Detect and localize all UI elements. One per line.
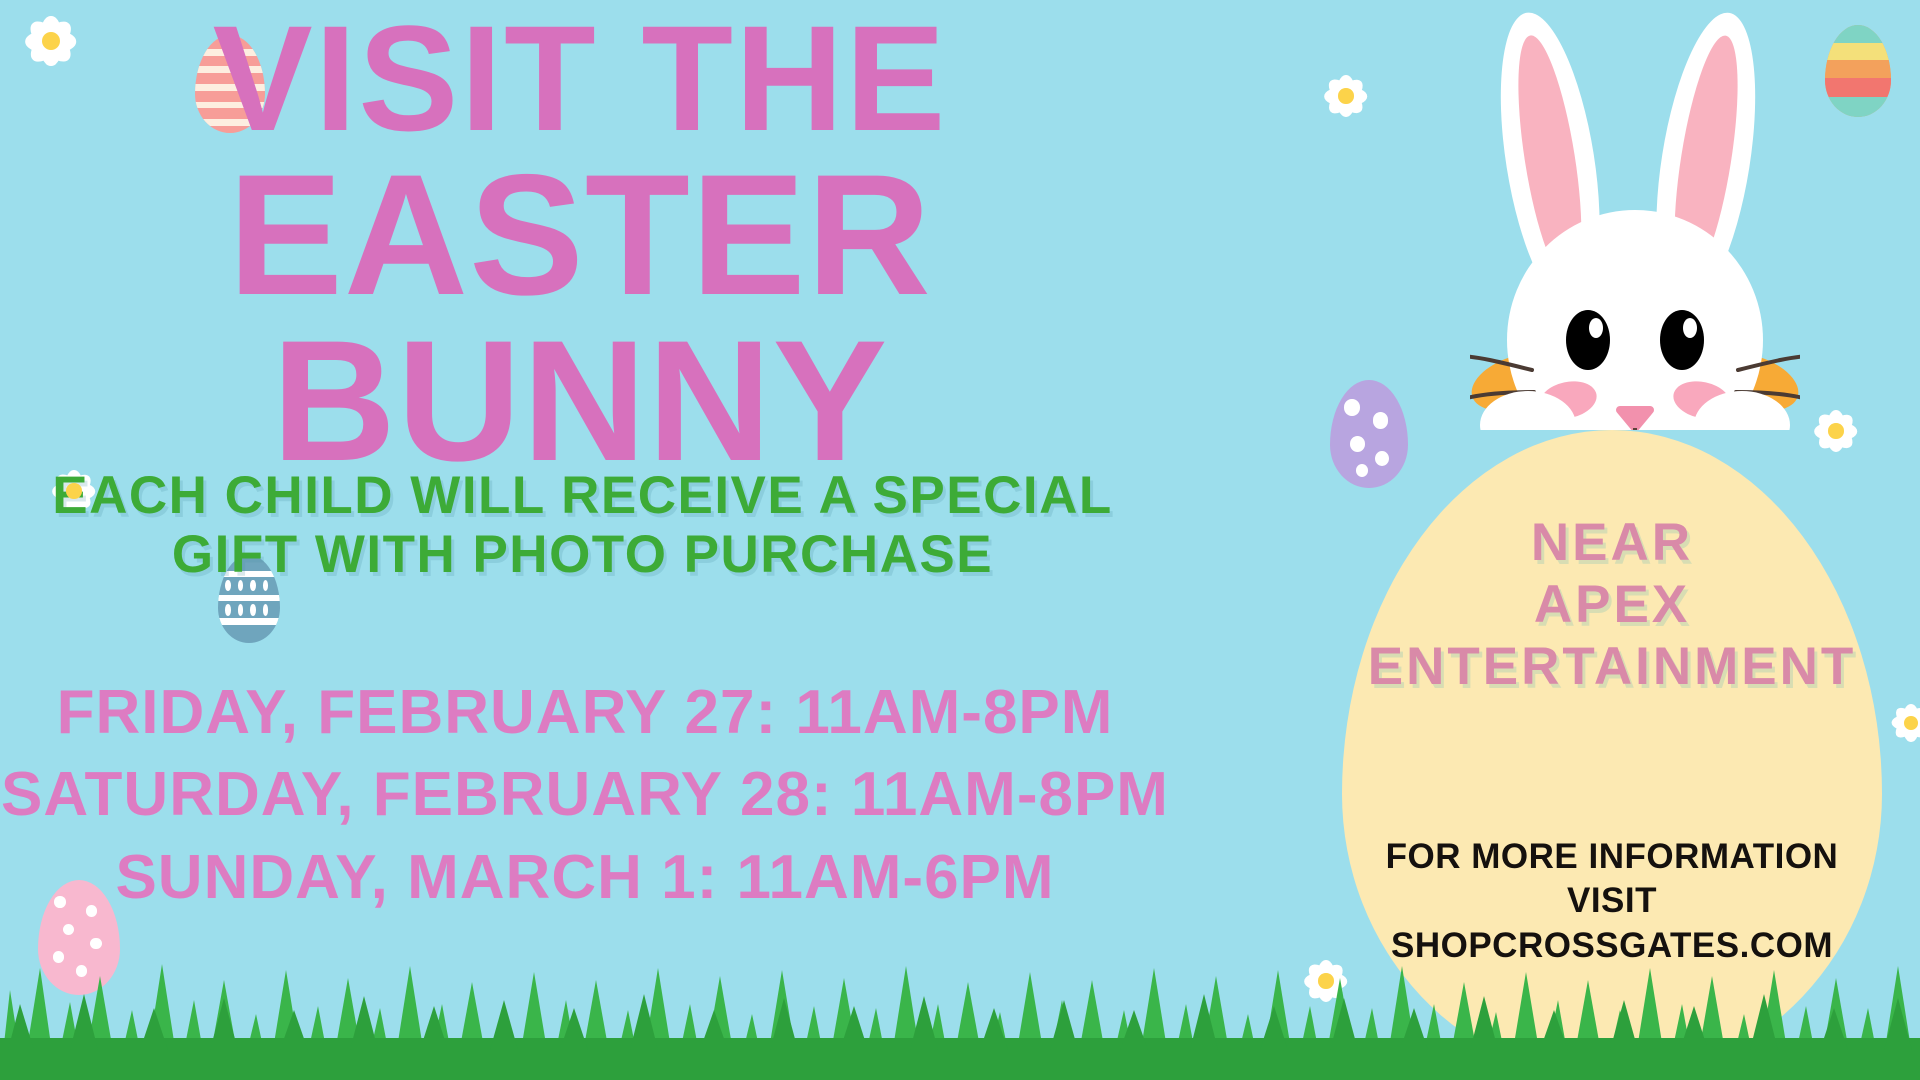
- schedule-line-sunday: SUNDAY, MARCH 1: 11AM-6PM: [0, 837, 1170, 919]
- poster-headline: VISIT THE EASTER BUNNY: [0, 6, 1160, 485]
- daisy-icon: [1810, 405, 1862, 457]
- subtitle-line-1: EACH CHILD WILL RECEIVE A SPECIAL: [0, 466, 1165, 525]
- easter-bunny-poster: VISIT THE EASTER BUNNY EACH CHILD WILL R…: [0, 0, 1920, 1080]
- easter-bunny-icon: [1470, 10, 1800, 430]
- more-info-text: FOR MORE INFORMATION VISIT SHOPCROSSGATE…: [1342, 835, 1882, 968]
- location-line-1: NEAR: [1342, 512, 1882, 574]
- rainbow-egg: [1825, 25, 1891, 117]
- schedule-block: FRIDAY, FEBRUARY 27: 11AM-8PM SATURDAY, …: [0, 672, 1170, 919]
- daisy-icon: [1320, 70, 1372, 122]
- schedule-line-saturday: SATURDAY, FEBRUARY 28: 11AM-8PM: [0, 754, 1170, 836]
- poster-subtitle: EACH CHILD WILL RECEIVE A SPECIAL GIFT W…: [0, 466, 1165, 585]
- location-line-2: APEX: [1342, 574, 1882, 636]
- headline-line-1: VISIT THE: [0, 6, 1160, 152]
- subtitle-line-2: GIFT WITH PHOTO PURCHASE: [0, 525, 1165, 584]
- location-text: NEAR APEX ENTERTAINMENT: [1342, 512, 1882, 698]
- grass-border-icon: [0, 950, 1920, 1080]
- schedule-line-friday: FRIDAY, FEBRUARY 27: 11AM-8PM: [0, 672, 1170, 754]
- daisy-icon: [1888, 700, 1920, 746]
- purple-floral-egg: [1330, 380, 1408, 488]
- headline-line-2: EASTER BUNNY: [0, 152, 1160, 486]
- location-line-3: ENTERTAINMENT: [1342, 636, 1882, 698]
- info-line-1: FOR MORE INFORMATION: [1342, 835, 1882, 879]
